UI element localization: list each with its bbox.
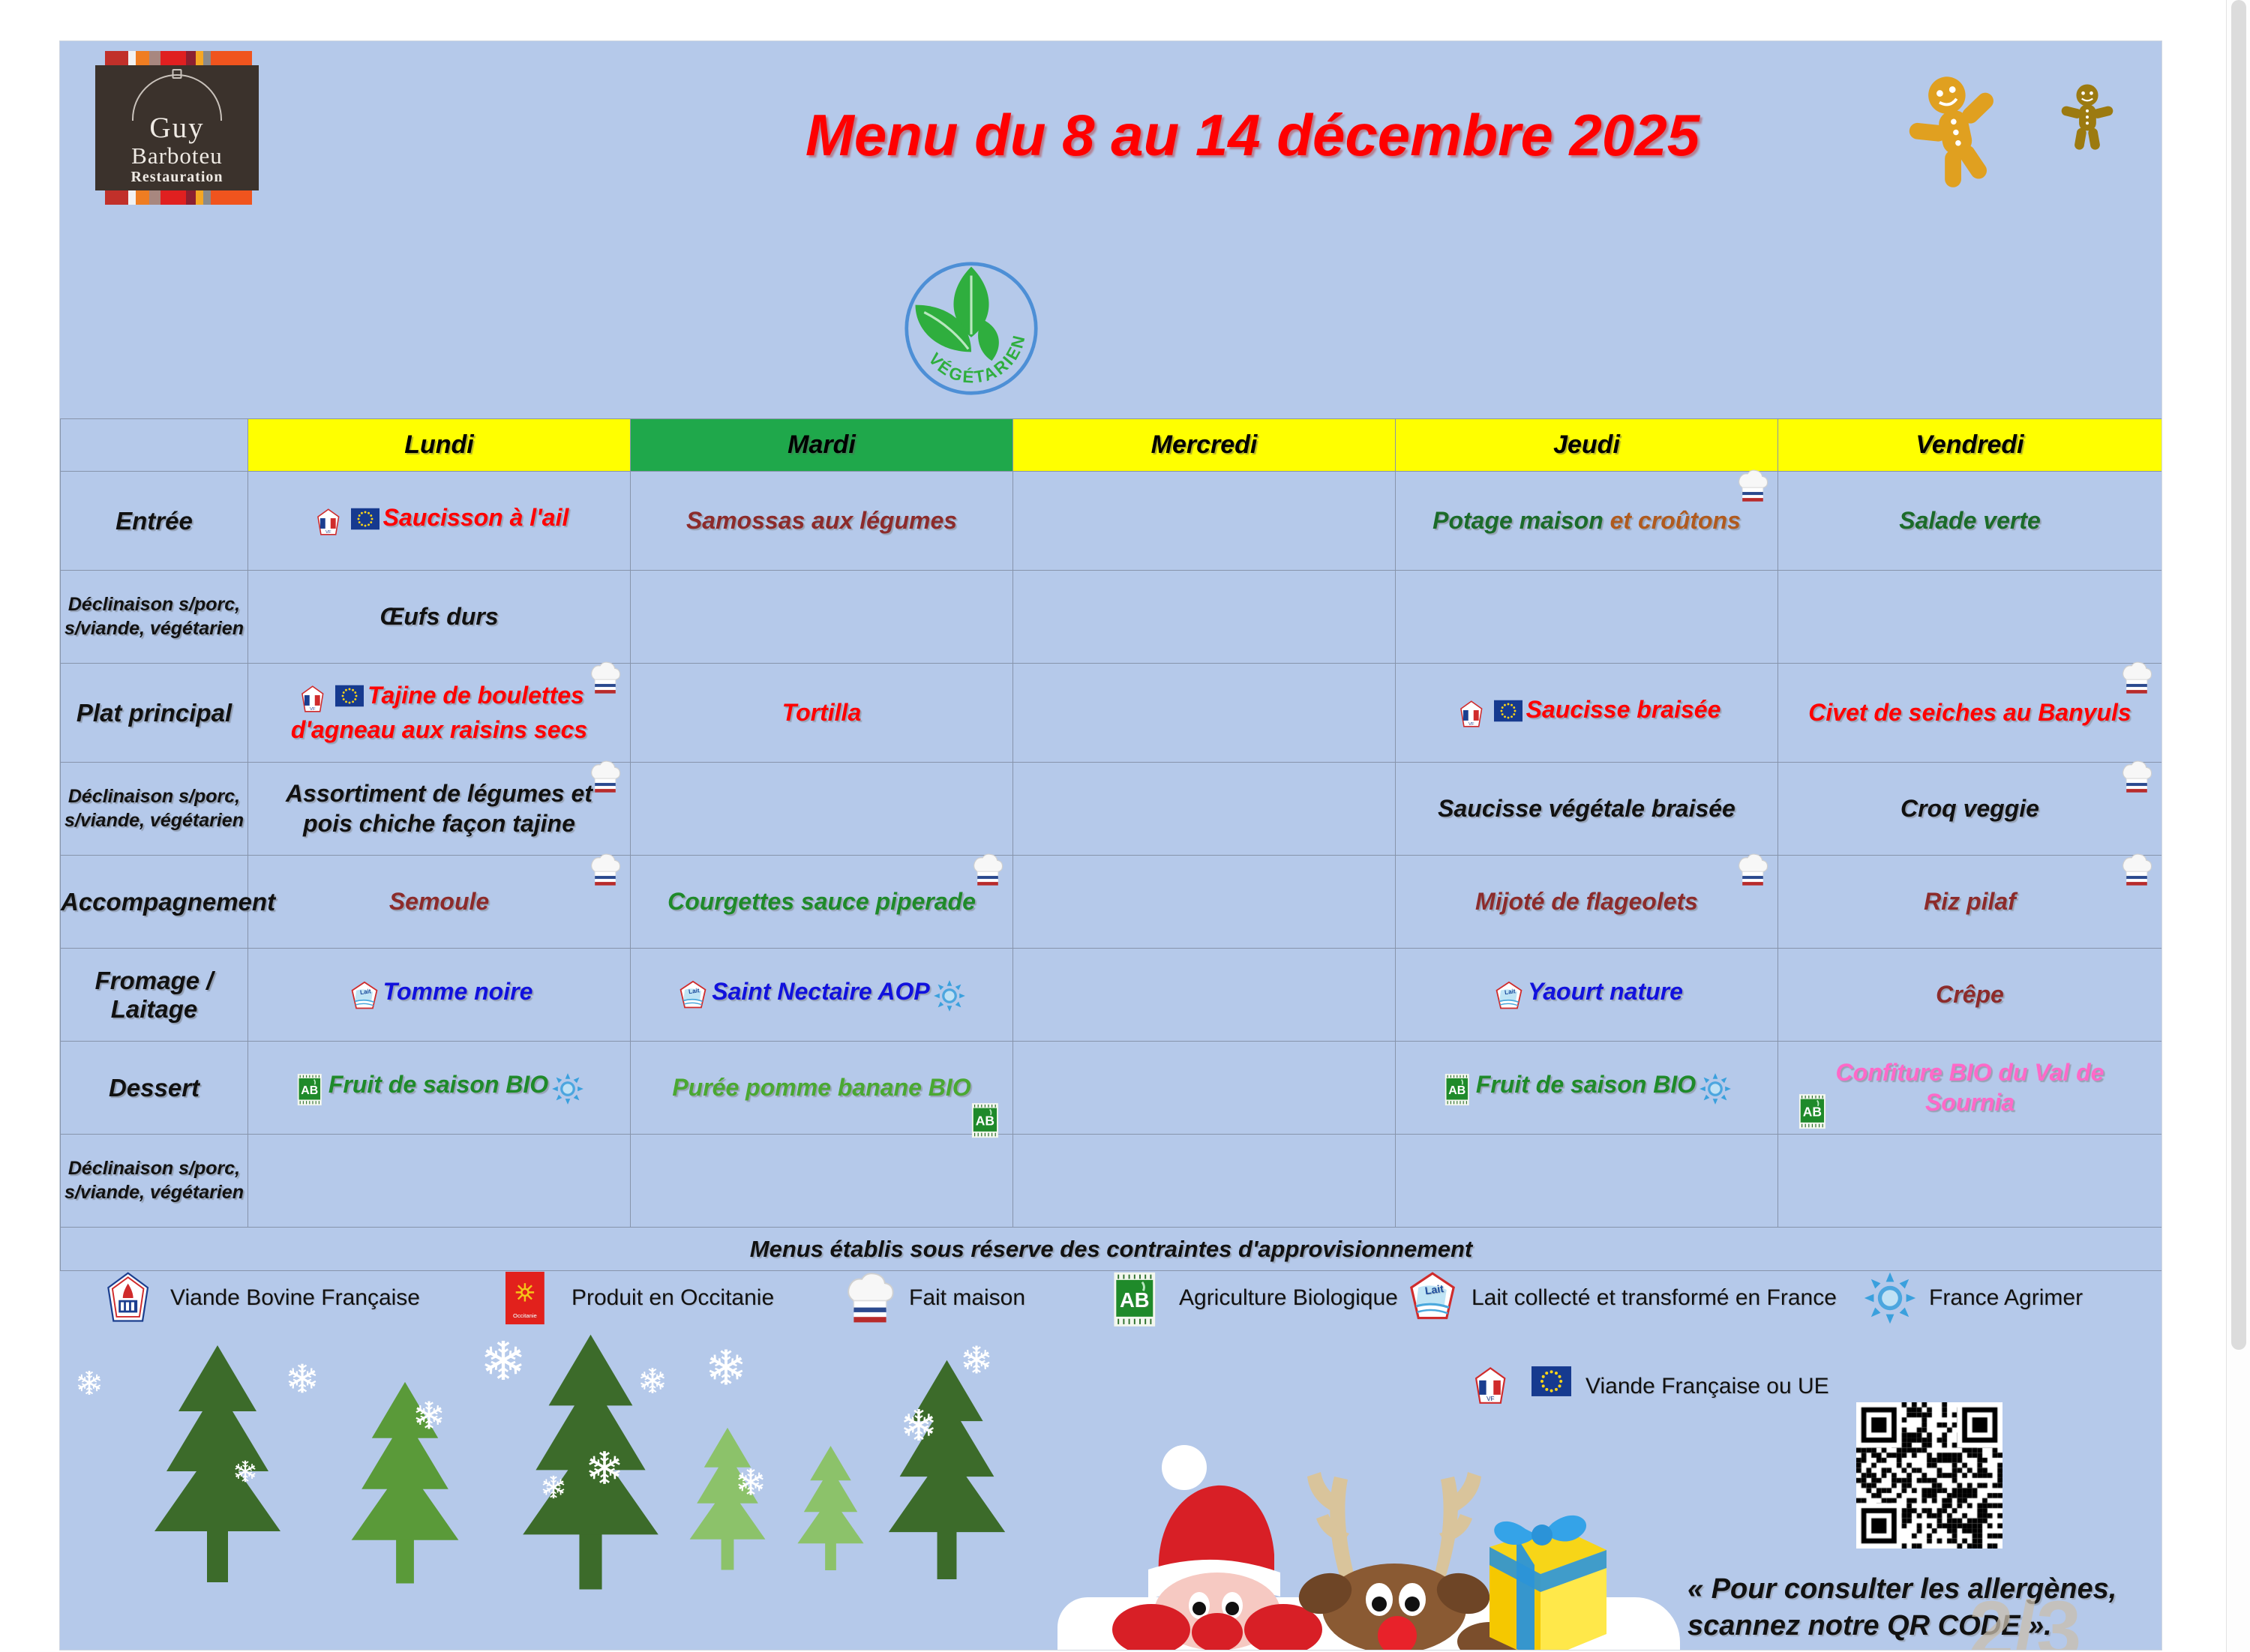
- menu-cell-content: LaitYaourt nature: [1408, 977, 1765, 1012]
- dish-name: Potage maison: [1432, 507, 1610, 534]
- menu-cell-accompagnement-mardi: Courgettes sauce piperade: [631, 856, 1013, 949]
- menu-cell-declinaison2-mercredi: [1013, 763, 1396, 856]
- row-label-entree: Entrée: [61, 472, 248, 571]
- dish-name: Courgettes sauce piperade: [667, 888, 976, 915]
- page-title: Menu du 8 au 14 décembre 2025: [540, 101, 1965, 169]
- france-agrimer-icon: [933, 979, 966, 1012]
- dish-name: Fruit de saison BIO: [1476, 1071, 1696, 1098]
- menu-cell-content: LaitSaint Nectaire AOP: [643, 977, 1000, 1013]
- eu-flag-icon: [1493, 700, 1523, 730]
- dish-name: Croq veggie: [1900, 795, 2039, 822]
- menu-cell-dessert-lundi: ABFruit de saison BIO: [248, 1042, 631, 1135]
- svg-text:VF: VF: [1468, 722, 1474, 727]
- dish-name: Salade verte: [1899, 507, 2041, 534]
- legend-label: France Agrimer: [1929, 1285, 2083, 1311]
- french-meat-flag-icon: VF: [297, 684, 328, 715]
- row-label-accompagnement: Accompagnement: [61, 856, 248, 949]
- menu-cell-declinaison3-jeudi: [1396, 1135, 1778, 1228]
- menu-cell-declinaison3-vendredi: [1778, 1135, 2162, 1228]
- day-header-jeudi: Jeudi: [1396, 419, 1778, 472]
- dish-name: Tomme noire: [383, 978, 533, 1005]
- table-row: Déclinaison s/porc, s/viande, végétarien…: [61, 571, 2162, 664]
- menu-cell-content: Samossas aux légumes: [643, 506, 1000, 535]
- gingerbread-man-large-icon: [1905, 71, 2017, 191]
- chef-hat-icon: [2119, 760, 2154, 794]
- france-agrimer-icon: [551, 1072, 584, 1105]
- svg-text:VF: VF: [310, 707, 316, 712]
- menu-cell-accompagnement-jeudi: Mijoté de flageolets: [1396, 856, 1778, 949]
- table-row: Fromage / LaitageLaitTomme noireLaitSain…: [61, 949, 2162, 1042]
- menu-cell-content: Riz pilaf: [1790, 887, 2149, 916]
- menu-cell-dessert-mercredi: [1013, 1042, 1396, 1135]
- menu-cell-content: Purée pomme banane BIO: [643, 1073, 1000, 1102]
- menu-cell-dessert-mardi: ABPurée pomme banane BIO: [631, 1042, 1013, 1135]
- menu-cell-content: Courgettes sauce piperade: [643, 887, 1000, 916]
- menu-cell-entree-mercredi: [1013, 472, 1396, 571]
- table-row: Déclinaison s/porc, s/viande, végétarien: [61, 1135, 2162, 1228]
- allergens-line-2: scannez notre QR CODE ».: [1687, 1608, 2161, 1645]
- menu-cell-content: Salade verte: [1790, 506, 2149, 535]
- snowflake-icon: [480, 1337, 526, 1387]
- legend-label: Viande Bovine Française: [170, 1285, 420, 1311]
- row-label-declinaison3: Déclinaison s/porc, s/viande, végétarien: [61, 1135, 248, 1228]
- chef-hat-icon: [970, 853, 1005, 887]
- ab-bio-left-icon: AB: [1795, 1093, 1829, 1128]
- table-corner-cell: [61, 419, 248, 472]
- snowflake-icon: [705, 1346, 747, 1392]
- menu-cell-content: Mijoté de flageolets: [1408, 887, 1765, 916]
- legend-label: Agriculture Biologique: [1179, 1285, 1398, 1311]
- table-row: AccompagnementSemouleCourgettes sauce pi…: [61, 856, 2162, 949]
- logo-plaque: Guy Barboteu Restauration: [95, 65, 259, 190]
- allergens-note: « Pour consulter les allergènes, scannez…: [1687, 1571, 2161, 1644]
- table-header-row: Lundi Mardi Mercredi Jeudi Vendredi: [61, 419, 2162, 472]
- menu-cell-accompagnement-mercredi: [1013, 856, 1396, 949]
- menu-cell-declinaison2-vendredi: Croq veggie: [1778, 763, 2162, 856]
- menu-cell-entree-vendredi: Salade verte: [1778, 472, 2162, 571]
- menu-cell-declinaison3-lundi: [248, 1135, 631, 1228]
- row-label-plat: Plat principal: [61, 664, 248, 763]
- svg-text:AB: AB: [1802, 1105, 1821, 1120]
- menu-cell-entree-mardi: Samossas aux légumes: [631, 472, 1013, 571]
- menu-cell-fromage-mercredi: [1013, 949, 1396, 1042]
- logo-line-2: Barboteu: [131, 144, 223, 167]
- allergens-line-1: « Pour consulter les allergènes,: [1687, 1571, 2161, 1608]
- menu-cell-content: Semoule: [260, 887, 618, 916]
- snowflake-icon: [540, 1474, 567, 1504]
- menu-cell-content: VFTajine de boulettes d'agneau aux raisi…: [260, 681, 618, 745]
- dish-name: et croûtons: [1610, 507, 1741, 534]
- menu-note-text: Menus établis sous réserve des contraint…: [750, 1236, 1473, 1262]
- menu-cell-fromage-jeudi: LaitYaourt nature: [1396, 949, 1778, 1042]
- svg-text:AB: AB: [1448, 1084, 1465, 1097]
- menu-cell-plat-lundi: VFTajine de boulettes d'agneau aux raisi…: [248, 664, 631, 763]
- menu-cell-declinaison1-jeudi: [1396, 571, 1778, 664]
- menu-note-cell: Menus établis sous réserve des contraint…: [61, 1228, 2162, 1271]
- christmas-tree-icon: [791, 1436, 870, 1582]
- dish-name: Œufs durs: [379, 603, 498, 630]
- page-number: 2/3: [1969, 1582, 2081, 1650]
- menu-cell-plat-jeudi: VFSaucisse braisée: [1396, 664, 1778, 763]
- row-label-dessert: Dessert: [61, 1042, 248, 1135]
- dish-name: Yaourt nature: [1528, 978, 1683, 1005]
- scrollbar-thumb[interactable]: [2231, 0, 2246, 1350]
- chef-hat-icon: [588, 853, 622, 887]
- dish-name: Saucisson à l'ail: [383, 504, 569, 531]
- menu-cell-content: Œufs durs: [260, 602, 618, 631]
- dish-name: Saucisse végétale braisée: [1438, 795, 1735, 822]
- menu-cell-declinaison2-lundi: Assortiment de légumes et pois chiche fa…: [248, 763, 631, 856]
- milk-france-icon: Lait: [677, 980, 709, 1012]
- menu-cell-declinaison2-mardi: [631, 763, 1013, 856]
- svg-text:AB: AB: [975, 1114, 994, 1129]
- dish-name: Confiture BIO du Val de Sournia: [1836, 1059, 2104, 1115]
- table-row: EntréeVFSaucisson à l'ailSamossas aux lé…: [61, 472, 2162, 571]
- document-viewer: Guy Barboteu Restauration Menu du 8 au 1…: [0, 0, 2250, 1652]
- svg-text:AB: AB: [301, 1084, 318, 1097]
- menu-page: Guy Barboteu Restauration Menu du 8 au 1…: [60, 41, 2161, 1650]
- snowflake-icon: [232, 1459, 258, 1488]
- milk-france-icon: Lait: [349, 981, 380, 1012]
- menu-cell-plat-vendredi: Civet de seiches au Banyuls: [1778, 664, 2162, 763]
- menu-cell-dessert-vendredi: ABConfiture BIO du Val de Sournia: [1778, 1042, 2162, 1135]
- french-meat-flag-icon: VF: [1456, 699, 1487, 730]
- snowflake-icon: [75, 1369, 103, 1401]
- day-header-vendredi: Vendredi: [1778, 419, 2162, 472]
- logo-line-3: Restauration: [130, 169, 223, 184]
- gift-box-icon: [1462, 1496, 1620, 1650]
- france-agrimer-icon: [1699, 1072, 1732, 1105]
- chef-hat-icon: [1735, 469, 1770, 503]
- menu-cell-declinaison1-mercredi: [1013, 571, 1396, 664]
- cloche-dome-icon: [132, 74, 222, 121]
- menu-cell-content: ABFruit de saison BIO: [260, 1070, 618, 1106]
- company-logo: Guy Barboteu Restauration: [95, 51, 259, 205]
- dish-name: Fruit de saison BIO: [328, 1071, 548, 1098]
- dish-name: Semoule: [389, 888, 489, 915]
- dish-name: Samossas aux légumes: [686, 507, 957, 534]
- menu-cell-content: ABFruit de saison BIO: [1408, 1070, 1765, 1106]
- christmas-tree-icon: [142, 1339, 292, 1590]
- menu-table: Lundi Mardi Mercredi Jeudi Vendredi Entr…: [60, 418, 2161, 1271]
- menu-cell-content: LaitTomme noire: [260, 977, 618, 1012]
- ab-bio-icon: AB: [967, 1102, 1002, 1137]
- snowflake-icon: [412, 1399, 445, 1435]
- menu-cell-content: Croq veggie: [1790, 794, 2149, 823]
- snowflake-icon: [900, 1406, 937, 1447]
- menu-cell-content: Confiture BIO du Val de Sournia: [1790, 1058, 2149, 1117]
- chef-hat-icon: [2119, 853, 2154, 887]
- row-label-declinaison2: Déclinaison s/porc, s/viande, végétarien: [61, 763, 248, 856]
- menu-cell-accompagnement-lundi: Semoule: [248, 856, 631, 949]
- menu-cell-declinaison3-mardi: [631, 1135, 1013, 1228]
- menu-cell-declinaison1-mardi: [631, 571, 1013, 664]
- dish-name: Crêpe: [1936, 981, 2004, 1008]
- row-label-declinaison1: Déclinaison s/porc, s/viande, végétarien: [61, 571, 248, 664]
- snowflake-icon: [960, 1343, 993, 1380]
- chef-hat-icon: [2119, 661, 2154, 695]
- menu-cell-fromage-mardi: LaitSaint Nectaire AOP: [631, 949, 1013, 1042]
- menu-cell-plat-mardi: Tortilla: [631, 664, 1013, 763]
- legend-label: Fait maison: [909, 1285, 1025, 1311]
- svg-text:AB: AB: [1120, 1288, 1150, 1312]
- menu-cell-declinaison3-mercredi: [1013, 1135, 1396, 1228]
- menu-cell-content: Tortilla: [643, 698, 1000, 727]
- vegetarian-badge-icon: VÉGÉTARIEN: [898, 255, 1045, 402]
- menu-cell-declinaison1-vendredi: [1778, 571, 2162, 664]
- snowflake-icon: [637, 1366, 667, 1399]
- dish-name: Civet de seiches au Banyuls: [1808, 699, 2131, 726]
- christmas-tree-icon: [877, 1352, 1016, 1588]
- gingerbread-man-small-icon: [2051, 80, 2123, 155]
- dish-name: Assortiment de légumes et pois chiche fa…: [286, 780, 592, 836]
- day-header-mercredi: Mercredi: [1013, 419, 1396, 472]
- chef-hat-icon: [588, 760, 622, 794]
- menu-cell-declinaison1-lundi: Œufs durs: [248, 571, 631, 664]
- menu-cell-fromage-vendredi: Crêpe: [1778, 949, 2162, 1042]
- ab-bio-icon: AB: [294, 1073, 325, 1105]
- eu-flag-icon: [350, 508, 380, 538]
- menu-cell-content: Potage maison et croûtons: [1408, 506, 1765, 535]
- dish-name: Saucisse braisée: [1526, 696, 1721, 723]
- snowflake-icon: [285, 1361, 319, 1399]
- dish-name: Riz pilaf: [1924, 888, 2016, 915]
- french-meat-flag-icon: VF: [313, 507, 344, 538]
- milk-france-icon: Lait: [1493, 981, 1525, 1012]
- svg-text:VF: VF: [325, 530, 331, 535]
- menu-cell-entree-lundi: VFSaucisson à l'ail: [248, 472, 631, 571]
- dish-name: Tortilla: [782, 699, 861, 726]
- legend-label: Produit en Occitanie: [571, 1285, 774, 1311]
- menu-cell-entree-jeudi: Potage maison et croûtons: [1396, 472, 1778, 571]
- table-row: DessertABFruit de saison BIOABPurée pomm…: [61, 1042, 2162, 1135]
- row-label-fromage: Fromage / Laitage: [61, 949, 248, 1042]
- vertical-scrollbar[interactable]: [2226, 0, 2250, 1652]
- menu-cell-content: Crêpe: [1790, 980, 2149, 1009]
- snowflake-icon: [735, 1466, 766, 1501]
- eu-flag-icon: [334, 685, 364, 715]
- dish-name: Mijoté de flageolets: [1475, 888, 1698, 915]
- day-header-mardi: Mardi: [631, 419, 1013, 472]
- table-note-row: Menus établis sous réserve des contraint…: [61, 1228, 2162, 1271]
- table-row: Déclinaison s/porc, s/viande, végétarien…: [61, 763, 2162, 856]
- dish-name: Saint Nectaire AOP: [712, 978, 929, 1005]
- menu-cell-dessert-jeudi: ABFruit de saison BIO: [1396, 1042, 1778, 1135]
- ab-bio-icon: AB: [1441, 1073, 1473, 1105]
- menu-cell-accompagnement-vendredi: Riz pilaf: [1778, 856, 2162, 949]
- table-row: Plat principalVFTajine de boulettes d'ag…: [61, 664, 2162, 763]
- menu-cell-content: Civet de seiches au Banyuls: [1790, 698, 2149, 727]
- chef-hat-icon: [1735, 853, 1770, 887]
- menu-cell-content: VFSaucisson à l'ail: [260, 503, 618, 538]
- day-header-lundi: Lundi: [248, 419, 631, 472]
- chef-hat-icon: [588, 661, 622, 695]
- menu-cell-content: Saucisse végétale braisée: [1408, 794, 1765, 823]
- menu-cell-plat-mercredi: [1013, 664, 1396, 763]
- menu-cell-fromage-lundi: LaitTomme noire: [248, 949, 631, 1042]
- menu-cell-content: Assortiment de légumes et pois chiche fa…: [260, 779, 618, 838]
- qr-code[interactable]: [1856, 1402, 2002, 1549]
- dish-name: Purée pomme banane BIO: [672, 1074, 970, 1101]
- menu-cell-content: VFSaucisse braisée: [1408, 695, 1765, 730]
- snowflake-icon: [585, 1448, 624, 1491]
- legend-label: Lait collecté et transformé en France: [1471, 1285, 1837, 1311]
- christmas-tree-icon: [341, 1375, 469, 1592]
- menu-cell-declinaison2-jeudi: Saucisse végétale braisée: [1396, 763, 1778, 856]
